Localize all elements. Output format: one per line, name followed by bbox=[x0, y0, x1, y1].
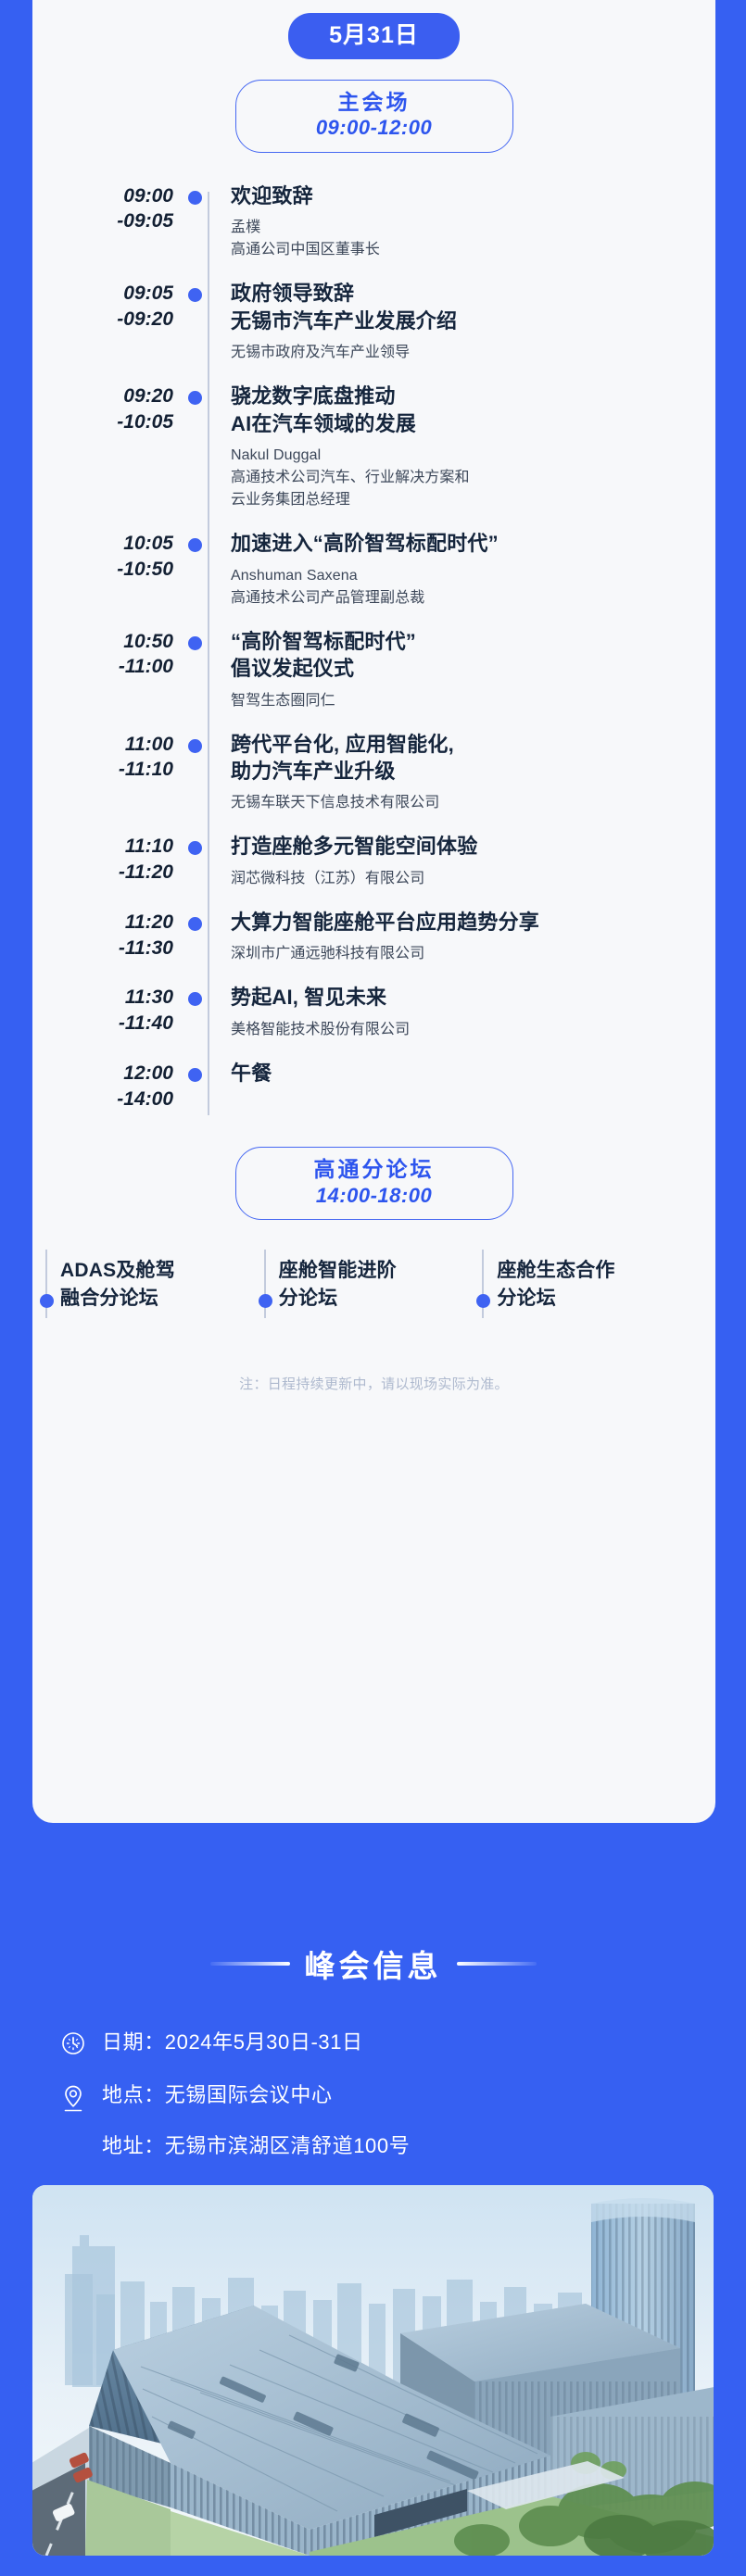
track-name-line2: 分论坛 bbox=[497, 1285, 695, 1313]
timeline-dot-col bbox=[197, 909, 218, 965]
session-speaker-title: 高通技术公司产品管理副总裁 bbox=[231, 587, 701, 609]
session-title-line1: 骁龙数字底盘推动 bbox=[231, 383, 701, 409]
timeline-dot-icon bbox=[188, 391, 202, 405]
session-time-start: 10:05 bbox=[32, 531, 173, 557]
session-row: 10:50 -11:00 “高阶智驾标配时代” 倡议发起仪式 智驾生态圈同仁 bbox=[32, 628, 715, 731]
session-content: 打造座舱多元智能空间体验 润芯微科技（江苏）有限公司 bbox=[218, 833, 715, 889]
session-time: 11:00 -11:10 bbox=[32, 731, 197, 815]
timeline-dot-col bbox=[197, 182, 218, 261]
session-title-line1: 欢迎致辞 bbox=[231, 182, 701, 209]
session-content: 骁龙数字底盘推动 AI在汽车领域的发展 Nakul Duggal 高通技术公司汽… bbox=[218, 383, 715, 511]
agenda-card: 5月31日 主会场 09:00-12:00 09:00 -09:05 欢迎致辞 bbox=[32, 0, 715, 1823]
track-cockpit-intelligence: 座舱智能进阶 分论坛 bbox=[259, 1257, 477, 1313]
session-time: 11:20 -11:30 bbox=[32, 909, 197, 965]
session-title: 午餐 bbox=[231, 1060, 701, 1087]
sub-forum-name: 高通分论坛 bbox=[277, 1156, 472, 1183]
session-time-end: -11:40 bbox=[32, 1011, 173, 1037]
timeline-dot-col bbox=[197, 628, 218, 712]
session-subtitle: Anshuman Saxena 高通技术公司产品管理副总裁 bbox=[231, 565, 701, 609]
session-subtitle: 润芯微科技（江苏）有限公司 bbox=[231, 868, 701, 890]
session-time-end: -11:10 bbox=[32, 757, 173, 783]
track-dot-icon bbox=[476, 1294, 490, 1308]
session-title-line1: 午餐 bbox=[231, 1060, 701, 1087]
session-subtitle: 美格智能技术股份有限公司 bbox=[231, 1019, 701, 1041]
session-time: 12:00 -14:00 bbox=[32, 1060, 197, 1134]
session-title-line2: AI在汽车领域的发展 bbox=[231, 410, 701, 437]
track-name-line2: 分论坛 bbox=[279, 1285, 477, 1313]
timeline-dot-icon bbox=[188, 636, 202, 650]
session-time-start: 09:00 bbox=[32, 183, 173, 209]
session-time-end: -09:20 bbox=[32, 307, 173, 333]
summit-title: 峰会信息 bbox=[305, 1941, 442, 1986]
session-speaker: Anshuman Saxena bbox=[231, 565, 701, 587]
session-time-start: 11:20 bbox=[32, 910, 173, 936]
session-time-start: 11:10 bbox=[32, 834, 173, 860]
timeline-dot-icon bbox=[188, 739, 202, 753]
session-row: 11:10 -11:20 打造座舱多元智能空间体验 润芯微科技（江苏）有限公司 bbox=[32, 833, 715, 908]
summit-location-row: 地点：无锡国际会议中心 地址：无锡市滨湖区清舒道100号 bbox=[59, 2080, 746, 2161]
session-time-end: -09:05 bbox=[32, 208, 173, 234]
summit-info-section: 峰会信息 日期：2024年5月30日-31日 bbox=[0, 1869, 746, 2556]
session-title: 大算力智能座舱平台应用趋势分享 bbox=[231, 909, 701, 936]
session-content: 跨代平台化, 应用智能化, 助力汽车产业升级 无锡车联天下信息技术有限公司 bbox=[218, 731, 715, 815]
timeline-dot-icon bbox=[188, 191, 202, 205]
track-cockpit-ecosystem: 座舱生态合作 分论坛 bbox=[476, 1257, 695, 1313]
session-speaker: 智驾生态圈同仁 bbox=[231, 690, 701, 712]
session-title-line1: 打造座舱多元智能空间体验 bbox=[231, 833, 701, 860]
session-content: 大算力智能座舱平台应用趋势分享 深圳市广通远驰科技有限公司 bbox=[218, 909, 715, 965]
main-hall-pill: 主会场 09:00-12:00 bbox=[235, 80, 513, 153]
session-content: “高阶智驾标配时代” 倡议发起仪式 智驾生态圈同仁 bbox=[218, 628, 715, 712]
session-speaker: 孟樸 bbox=[231, 217, 701, 239]
track-dot-icon bbox=[259, 1294, 272, 1308]
session-row: 10:05 -10:50 加速进入“高阶智驾标配时代” Anshuman Sax… bbox=[32, 530, 715, 627]
session-row: 09:20 -10:05 骁龙数字底盘推动 AI在汽车领域的发展 Nakul D… bbox=[32, 383, 715, 530]
session-time-start: 12:00 bbox=[32, 1061, 173, 1087]
session-time-start: 11:00 bbox=[32, 732, 173, 758]
session-time: 11:10 -11:20 bbox=[32, 833, 197, 889]
session-row: 11:30 -11:40 势起AI, 智见未来 美格智能技术股份有限公司 bbox=[32, 984, 715, 1059]
session-time: 10:05 -10:50 bbox=[32, 530, 197, 609]
timeline-dot-col bbox=[197, 984, 218, 1040]
session-title-line2: 助力汽车产业升级 bbox=[231, 758, 701, 785]
session-subtitle: 无锡市政府及汽车产业领导 bbox=[231, 342, 701, 364]
track-name-line1: 座舱智能进阶 bbox=[279, 1257, 477, 1285]
session-speaker: Nakul Duggal bbox=[231, 445, 701, 467]
session-content: 午餐 bbox=[218, 1060, 715, 1134]
session-row: 12:00 -14:00 午餐 bbox=[32, 1060, 715, 1137]
session-speaker: 无锡车联天下信息技术有限公司 bbox=[231, 792, 701, 814]
session-time-end: -10:50 bbox=[32, 557, 173, 583]
session-title-line1: 政府领导致辞 bbox=[231, 280, 701, 307]
session-time: 09:05 -09:20 bbox=[32, 280, 197, 364]
session-speaker-title: 高通技术公司汽车、行业解决方案和 bbox=[231, 467, 701, 489]
session-time-end: -10:05 bbox=[32, 409, 173, 435]
session-subtitle: 无锡车联天下信息技术有限公司 bbox=[231, 792, 701, 814]
session-timeline: 09:00 -09:05 欢迎致辞 孟樸 高通公司中国区董事长 0 bbox=[32, 182, 715, 1141]
session-speaker: 深圳市广通远驰科技有限公司 bbox=[231, 943, 701, 965]
summit-location-text: 地点：无锡国际会议中心 地址：无锡市滨湖区清舒道100号 bbox=[102, 2080, 410, 2161]
session-speaker: 无锡市政府及汽车产业领导 bbox=[231, 342, 701, 364]
timeline-dot-icon bbox=[188, 992, 202, 1006]
timeline-dot-col bbox=[197, 731, 218, 815]
session-title-line2: 无锡市汽车产业发展介绍 bbox=[231, 308, 701, 334]
session-row: 09:00 -09:05 欢迎致辞 孟樸 高通公司中国区董事长 bbox=[32, 182, 715, 280]
session-time: 09:00 -09:05 bbox=[32, 182, 197, 261]
session-subtitle: 智驾生态圈同仁 bbox=[231, 690, 701, 712]
session-time: 10:50 -11:00 bbox=[32, 628, 197, 712]
session-row: 09:05 -09:20 政府领导致辞 无锡市汽车产业发展介绍 无锡市政府及汽车… bbox=[32, 280, 715, 383]
track-name-line2: 融合分论坛 bbox=[60, 1285, 259, 1313]
session-time-start: 11:30 bbox=[32, 985, 173, 1011]
session-title: 骁龙数字底盘推动 AI在汽车领域的发展 bbox=[231, 383, 701, 437]
session-title: 政府领导致辞 无锡市汽车产业发展介绍 bbox=[231, 280, 701, 334]
session-speaker: 润芯微科技（江苏）有限公司 bbox=[231, 868, 701, 890]
session-time-end: -11:00 bbox=[32, 654, 173, 680]
session-title-line1: “高阶智驾标配时代” bbox=[231, 628, 701, 655]
session-time: 09:20 -10:05 bbox=[32, 383, 197, 511]
session-subtitle: 深圳市广通远驰科技有限公司 bbox=[231, 943, 701, 965]
timeline-dot-icon bbox=[188, 1068, 202, 1082]
sub-forum-wrap: 高通分论坛 14:00-18:00 bbox=[32, 1147, 715, 1220]
track-name: 座舱智能进阶 分论坛 bbox=[279, 1257, 477, 1313]
session-time-end: -11:30 bbox=[32, 936, 173, 961]
date-badge: 5月31日 bbox=[288, 13, 460, 59]
timeline-dot-col bbox=[197, 280, 218, 364]
timeline-dot-icon bbox=[188, 841, 202, 855]
agenda-note: 注：日程持续更新中，请以现场实际为准。 bbox=[32, 1374, 715, 1393]
session-time-end: -14:00 bbox=[32, 1087, 173, 1112]
session-title-line1: 跨代平台化, 应用智能化, bbox=[231, 731, 701, 758]
summit-info-list: 日期：2024年5月30日-31日 地点：无锡国际会议中心 地址：无锡市滨湖区清… bbox=[59, 2027, 746, 2161]
track-name: ADAS及舱驾 融合分论坛 bbox=[60, 1257, 259, 1313]
sub-forum-pill: 高通分论坛 14:00-18:00 bbox=[235, 1147, 513, 1220]
session-time-end: -11:20 bbox=[32, 860, 173, 886]
session-time-start: 09:20 bbox=[32, 383, 173, 409]
divider-right bbox=[457, 1962, 537, 1966]
session-time: 11:30 -11:40 bbox=[32, 984, 197, 1040]
session-title: 势起AI, 智见未来 bbox=[231, 984, 701, 1011]
track-list: ADAS及舱驾 融合分论坛 座舱智能进阶 分论坛 座舱生态合作 分论坛 bbox=[32, 1257, 715, 1313]
location-pin-icon bbox=[59, 2080, 102, 2114]
session-speaker: 美格智能技术股份有限公司 bbox=[231, 1019, 701, 1041]
session-title: “高阶智驾标配时代” 倡议发起仪式 bbox=[231, 628, 701, 683]
session-speaker-title-2: 云业务集团总经理 bbox=[231, 489, 701, 511]
divider-left bbox=[210, 1962, 290, 1966]
track-dot-icon bbox=[40, 1294, 54, 1308]
timeline-dot-icon bbox=[188, 288, 202, 302]
timeline-dot-icon bbox=[188, 917, 202, 931]
session-content: 加速进入“高阶智驾标配时代” Anshuman Saxena 高通技术公司产品管… bbox=[218, 530, 715, 609]
session-speaker-title: 高通公司中国区董事长 bbox=[231, 239, 701, 261]
session-title: 欢迎致辞 bbox=[231, 182, 701, 209]
session-title-line2: 倡议发起仪式 bbox=[231, 655, 701, 682]
track-name-line1: ADAS及舱驾 bbox=[60, 1257, 259, 1285]
session-title-line1: 加速进入“高阶智驾标配时代” bbox=[231, 530, 701, 557]
agenda-poster: 5月31日 主会场 09:00-12:00 09:00 -09:05 欢迎致辞 bbox=[0, 0, 746, 2576]
timeline-dot-col bbox=[197, 1060, 218, 1134]
session-time-start: 10:50 bbox=[32, 629, 173, 655]
session-title-line1: 大算力智能座舱平台应用趋势分享 bbox=[231, 909, 701, 936]
sub-forum-time: 14:00-18:00 bbox=[277, 1183, 472, 1209]
date-badge-wrap: 5月31日 bbox=[32, 13, 715, 59]
main-hall-time: 09:00-12:00 bbox=[281, 115, 468, 141]
track-name-line1: 座舱生态合作 bbox=[497, 1257, 695, 1285]
session-title: 加速进入“高阶智驾标配时代” bbox=[231, 530, 701, 557]
track-name: 座舱生态合作 分论坛 bbox=[497, 1257, 695, 1313]
track-adas: ADAS及舱驾 融合分论坛 bbox=[40, 1257, 259, 1313]
session-title-line1: 势起AI, 智见未来 bbox=[231, 984, 701, 1011]
main-hall-name: 主会场 bbox=[281, 89, 468, 116]
timeline-dot-col bbox=[197, 383, 218, 511]
timeline-dot-col bbox=[197, 530, 218, 609]
timeline-dot-col bbox=[197, 833, 218, 889]
venue-photo bbox=[32, 2185, 714, 2556]
main-hall-wrap: 主会场 09:00-12:00 bbox=[32, 80, 715, 153]
session-time-start: 09:05 bbox=[32, 281, 173, 307]
summit-address: 地址：无锡市滨湖区清舒道100号 bbox=[102, 2130, 410, 2161]
summit-date-text: 日期：2024年5月30日-31日 bbox=[102, 2027, 363, 2057]
summit-date-row: 日期：2024年5月30日-31日 bbox=[59, 2027, 746, 2057]
session-content: 势起AI, 智见未来 美格智能技术股份有限公司 bbox=[218, 984, 715, 1040]
clock-icon bbox=[59, 2027, 102, 2057]
session-subtitle: Nakul Duggal 高通技术公司汽车、行业解决方案和 云业务集团总经理 bbox=[231, 445, 701, 511]
session-row: 11:20 -11:30 大算力智能座舱平台应用趋势分享 深圳市广通远驰科技有限… bbox=[32, 909, 715, 984]
session-content: 欢迎致辞 孟樸 高通公司中国区董事长 bbox=[218, 182, 715, 261]
session-title: 跨代平台化, 应用智能化, 助力汽车产业升级 bbox=[231, 731, 701, 785]
session-title: 打造座舱多元智能空间体验 bbox=[231, 833, 701, 860]
session-content: 政府领导致辞 无锡市汽车产业发展介绍 无锡市政府及汽车产业领导 bbox=[218, 280, 715, 364]
timeline-dot-icon bbox=[188, 538, 202, 552]
session-subtitle: 孟樸 高通公司中国区董事长 bbox=[231, 217, 701, 261]
summit-venue: 地点：无锡国际会议中心 bbox=[102, 2083, 333, 2106]
summit-heading: 峰会信息 bbox=[0, 1941, 746, 1986]
session-row: 11:00 -11:10 跨代平台化, 应用智能化, 助力汽车产业升级 无锡车联… bbox=[32, 731, 715, 834]
